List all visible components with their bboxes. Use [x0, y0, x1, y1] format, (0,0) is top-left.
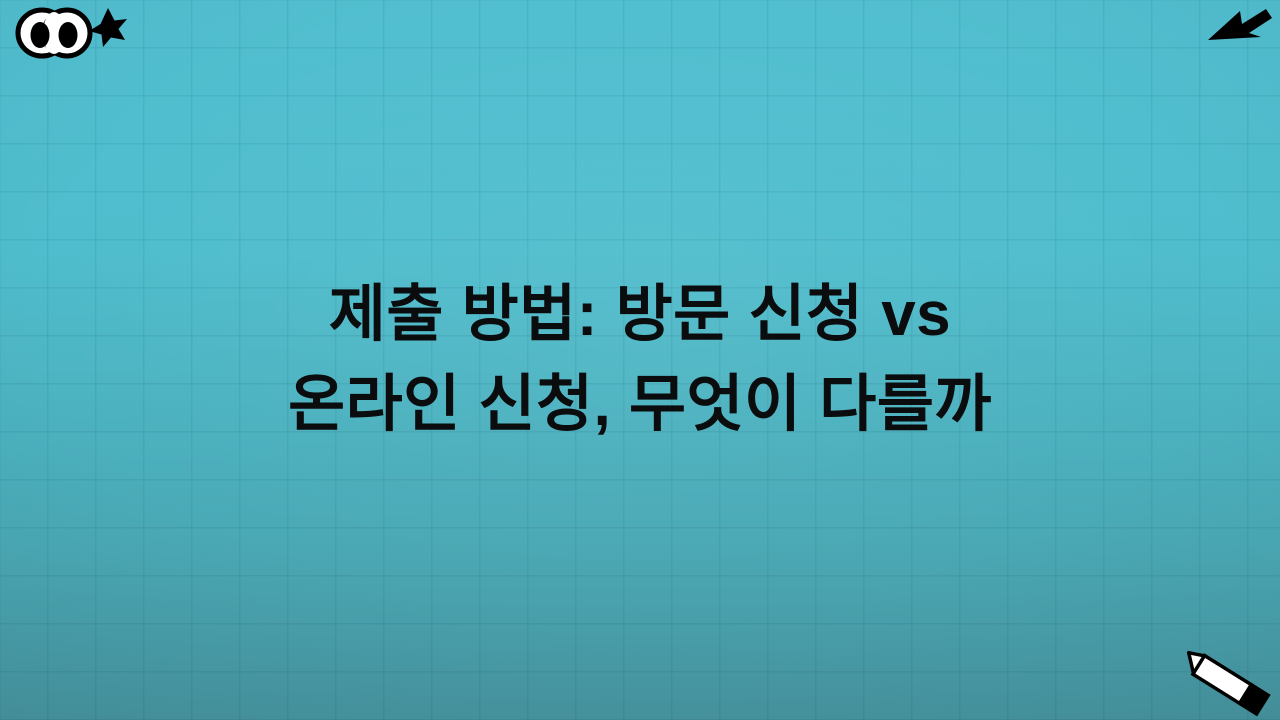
title-card-canvas: 제출 방법: 방문 신청 vs 온라인 신청, 무엇이 다를까	[0, 0, 1280, 720]
page-title-line-1: 제출 방법: 방문 신청 vs	[288, 270, 992, 360]
title-container: 제출 방법: 방문 신청 vs 온라인 신청, 무엇이 다를까	[0, 0, 1280, 720]
page-title: 제출 방법: 방문 신청 vs 온라인 신청, 무엇이 다를까	[288, 270, 992, 450]
page-title-line-2: 온라인 신청, 무엇이 다를까	[288, 360, 992, 450]
